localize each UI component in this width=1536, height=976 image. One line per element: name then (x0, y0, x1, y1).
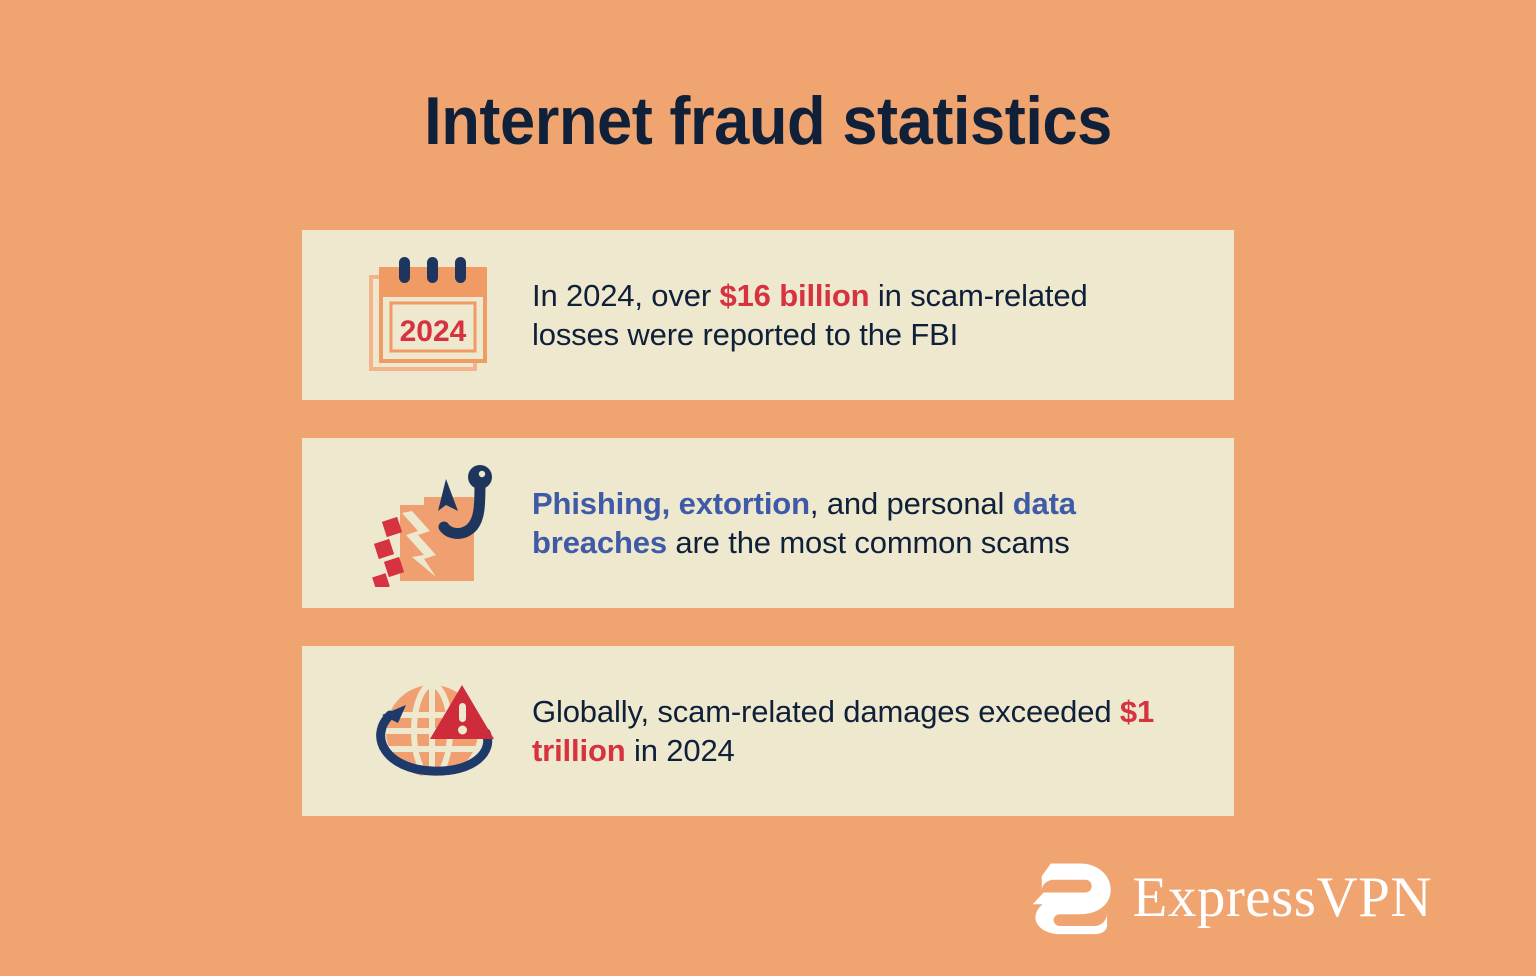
stat-card-text: Globally, scam-related damages exceeded … (532, 692, 1234, 770)
stat-card: 2024 In 2024, over $16 billion in scam-r… (302, 230, 1234, 400)
expressvpn-logo: ExpressVPN (1023, 858, 1433, 936)
text-segment: In 2024, over (532, 278, 719, 313)
stat-card-text: In 2024, over $16 billion in scam-relate… (532, 276, 1234, 354)
highlight-scam-types: Phishing, extortion (532, 486, 810, 521)
text-segment: , and personal (810, 486, 1013, 521)
page-title: Internet fraud statistics (54, 86, 1482, 157)
stat-card-text: Phishing, extortion, and personal data b… (532, 484, 1234, 562)
stat-card: Phishing, extortion, and personal data b… (302, 438, 1234, 608)
globe-warning-icon (342, 661, 522, 801)
text-segment: in 2024 (626, 733, 735, 768)
stat-card-list: 2024 In 2024, over $16 billion in scam-r… (302, 230, 1234, 854)
text-segment: Globally, scam-related damages exceeded (532, 694, 1120, 729)
calendar-2024-icon: 2024 (342, 245, 522, 385)
infographic-root: Internet fraud statistics (0, 0, 1536, 976)
globe-warning-icon-svg (362, 671, 502, 791)
phishing-hook-icon-svg (362, 459, 502, 587)
phishing-hook-icon (342, 453, 522, 593)
calendar-2024-icon-svg: 2024 (367, 255, 497, 375)
stat-card: Globally, scam-related damages exceeded … (302, 646, 1234, 816)
expressvpn-e-mark (1023, 858, 1115, 936)
text-segment: are the most common scams (667, 525, 1070, 560)
calendar-year-label: 2024 (400, 315, 467, 348)
highlight-amount: $16 billion (719, 278, 869, 313)
expressvpn-wordmark: ExpressVPN (1133, 869, 1433, 926)
